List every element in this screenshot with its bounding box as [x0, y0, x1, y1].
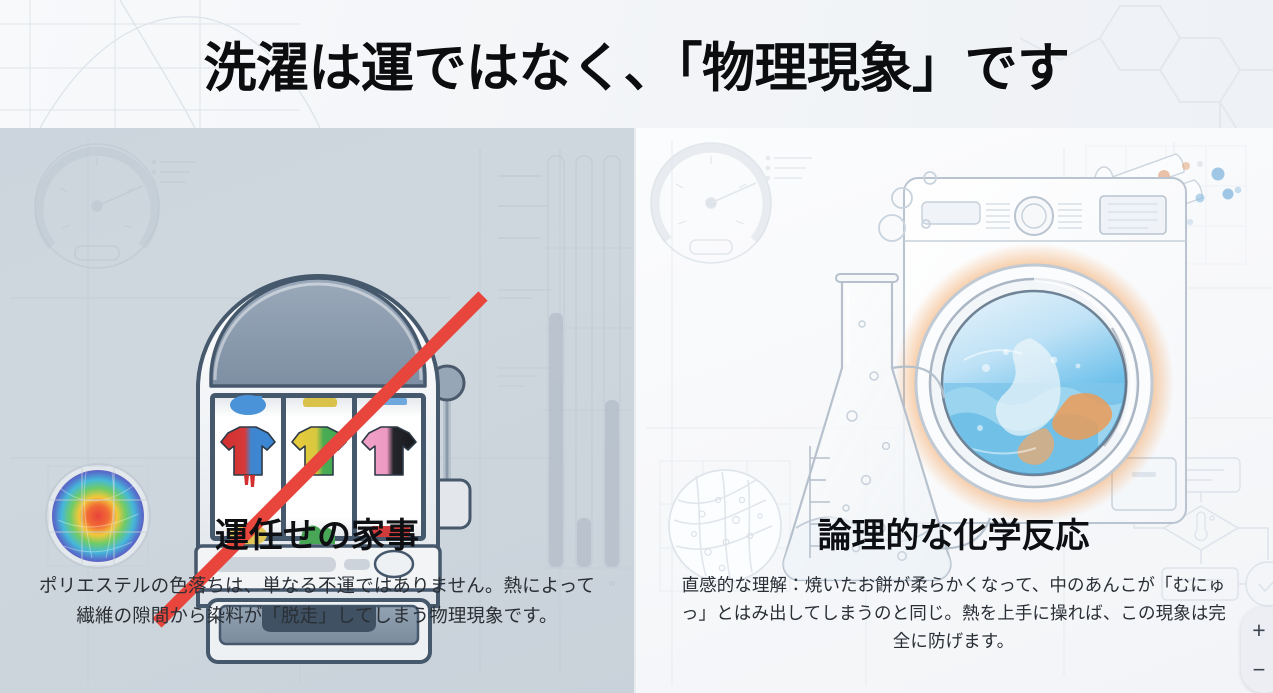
right-caption-body: 直感的な理解：焼いたお餅が柔らかくなって、中のあんこが「むにゅっ」とはみ出してし…: [634, 571, 1273, 656]
page-title: 洗濯は運ではなく、「物理現象」です: [0, 0, 1273, 128]
reel-shirt-1: [221, 427, 275, 487]
left-caption-body: ポリエステルの色落ちは、単なる不運ではありません。熱によって繊維の隙間から染料が…: [0, 571, 634, 631]
zoom-in-button[interactable]: +: [1246, 617, 1272, 643]
left-caption: 運任せの家事 ポリエステルの色落ちは、単なる不運ではありません。熱によって繊維の…: [0, 516, 634, 631]
drum-glow: [894, 243, 1174, 523]
legend-lines: [766, 156, 812, 179]
comparison-panels: dpw: [0, 128, 1273, 693]
reel-top-peek: [230, 395, 407, 415]
reel-shirt-3: [362, 427, 416, 475]
slide-root: 洗濯は運ではなく、「物理現象」です: [0, 0, 1273, 693]
right-caption: 論理的な化学反応 直感的な理解：焼いたお餅が柔らかくなって、中のあんこが「むにゅ…: [634, 516, 1273, 656]
zoom-out-button[interactable]: −: [1246, 657, 1272, 683]
washer-door: [916, 265, 1152, 501]
washing-machine: [904, 178, 1186, 523]
right-caption-title: 論理的な化学反応: [634, 516, 1273, 557]
display-panel: [1100, 196, 1166, 234]
zoom-control[interactable]: + −: [1241, 607, 1273, 693]
drum-contents: [942, 338, 1134, 494]
panel-science: 論理的な化学反応 直感的な理解：焼いたお餅が柔らかくなって、中のあんこが「むにゅ…: [634, 128, 1273, 693]
drum-window: [942, 291, 1126, 475]
lever-knob: [430, 366, 464, 400]
text-placeholder-lines: [498, 176, 552, 386]
legend-lines: [152, 160, 196, 183]
gauge-icon: [35, 144, 159, 268]
panel-divider: [634, 128, 636, 693]
fiber-bundle-tubes: [1086, 146, 1246, 264]
left-caption-title: 運任せの家事: [0, 516, 634, 557]
reel-shirt-2: [292, 427, 346, 475]
detergent-tray: [922, 202, 980, 224]
floating-bubbles: [879, 172, 936, 241]
gauge-icon: [651, 143, 771, 263]
header-band: 洗濯は運ではなく、「物理現象」です: [0, 0, 1273, 128]
program-dial: [1015, 197, 1053, 235]
panel-luck: dpw: [0, 128, 634, 693]
